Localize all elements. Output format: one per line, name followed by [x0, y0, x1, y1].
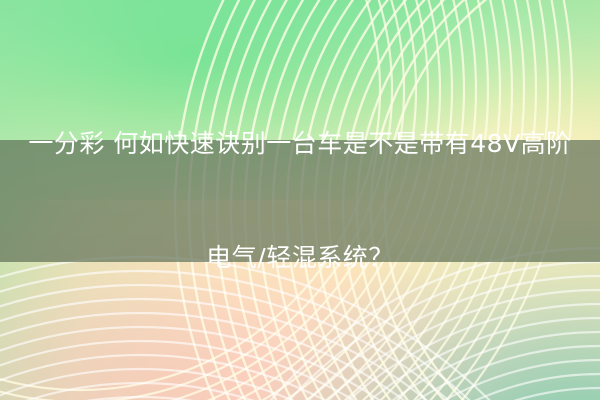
caption-line-2: 电气/轻混系统？ — [28, 239, 571, 277]
caption-line-1: 一分彩 何如快速诀别一台车是不是带有48V高阶 — [28, 125, 571, 163]
caption-band: 一分彩 何如快速诀别一台车是不是带有48V高阶 电气/轻混系统？ — [0, 140, 600, 262]
banner-image: 一分彩 何如快速诀别一台车是不是带有48V高阶 电气/轻混系统？ — [0, 0, 600, 400]
caption-text: 一分彩 何如快速诀别一台车是不是带有48V高阶 电气/轻混系统？ — [28, 49, 571, 353]
